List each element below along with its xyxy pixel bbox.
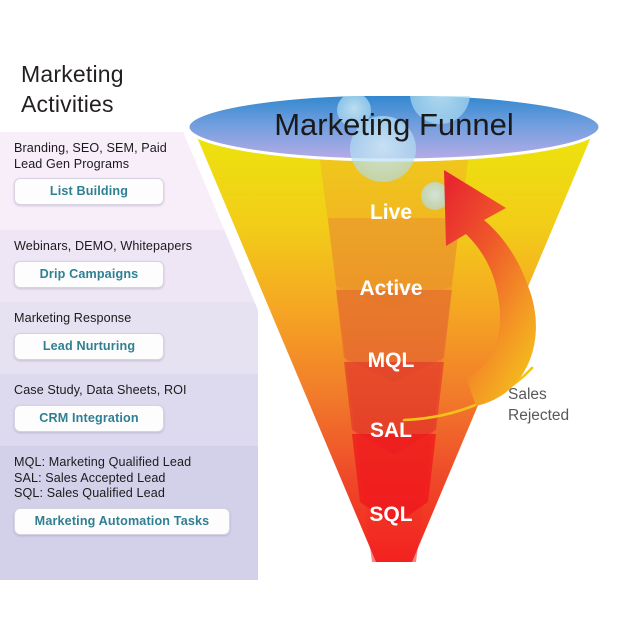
sidebar-band-1-button[interactable]: List Building <box>14 178 164 205</box>
funnel-svg: Marketing Funnel Live Active MQL SAL SQL <box>176 96 612 576</box>
funnel-stage-label-sal: SAL <box>370 419 412 442</box>
marketing-funnel-graphic: Marketing Funnel Live Active MQL SAL SQL <box>176 96 612 576</box>
funnel-stage-label-mql: MQL <box>368 349 415 372</box>
page-title: Marketing Activities <box>21 59 124 119</box>
funnel-title: Marketing Funnel <box>274 107 514 142</box>
sidebar-band-2-button[interactable]: Drip Campaigns <box>14 261 164 288</box>
sales-rejected-label: Sales Rejected <box>508 384 569 426</box>
funnel-infographic: Branding, SEO, SEM, Paid Lead Gen Progra… <box>0 0 640 640</box>
sidebar-band-3-button[interactable]: Lead Nurturing <box>14 333 164 360</box>
funnel-stage-label-live: Live <box>370 201 412 224</box>
funnel-stage-label-sql: SQL <box>369 503 412 526</box>
funnel-stage-label-active: Active <box>359 277 422 300</box>
sidebar-band-4-button[interactable]: CRM Integration <box>14 405 164 432</box>
